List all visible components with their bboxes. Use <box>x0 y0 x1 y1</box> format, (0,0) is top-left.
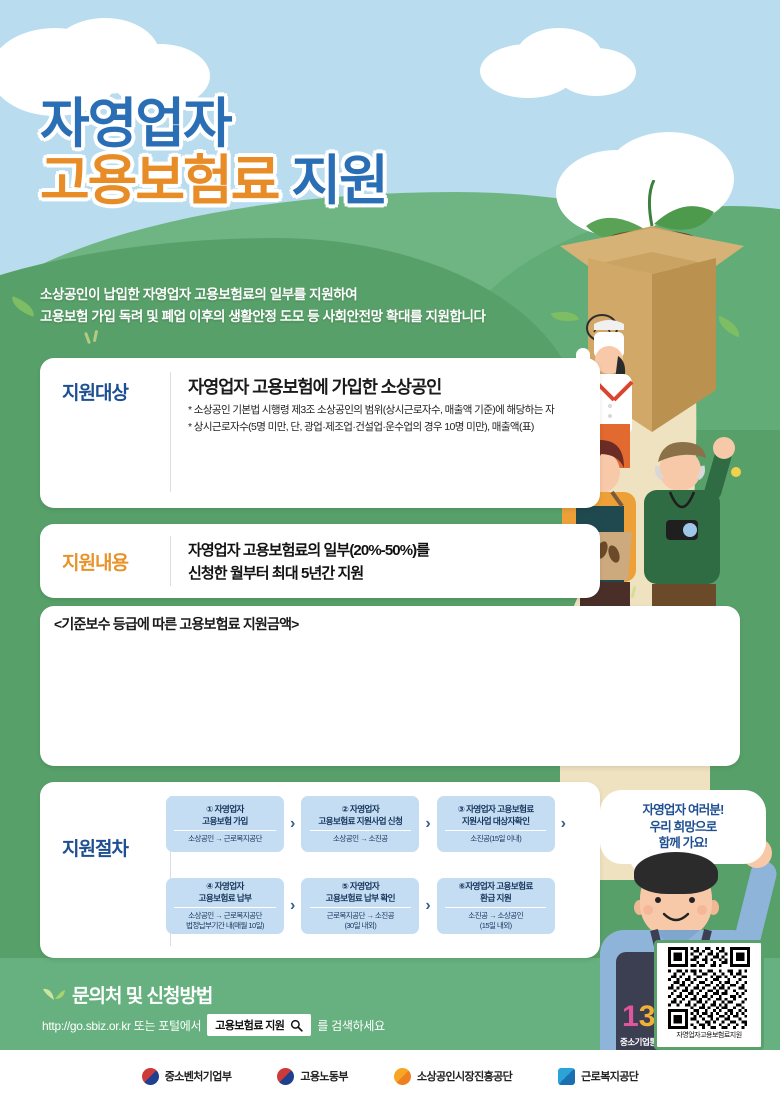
footer-url-text: http://go.sbiz.or.kr 또는 포털에서 <box>42 1017 201 1034</box>
poster-title: 자영업자 고용보험료 지원 <box>40 96 387 210</box>
man-face <box>640 890 712 930</box>
chevron-right-icon: › <box>425 815 430 833</box>
bubble-line-3: 함께 가요! <box>643 835 724 852</box>
qr-caption: 자영업자고용보험료지원 <box>676 1030 741 1040</box>
logo-item: 소상공인시장진흥공단 <box>394 1068 512 1085</box>
footer-instructions: http://go.sbiz.or.kr 또는 포털에서 고용보험료 지원 를 … <box>42 1014 385 1036</box>
step-title: ⑤ 자영업자고용보험료 납부 확인 <box>323 881 398 903</box>
bubble-line-1: 자영업자 여러분! <box>643 802 724 819</box>
divider <box>310 907 411 908</box>
support-target-headline: 자영업자 고용보험에 가입한 소상공인 <box>188 374 441 399</box>
procedure-step-1[interactable]: ① 자영업자고용보험 가입 소상공인 → 근로복지공단 <box>166 796 284 852</box>
step-detail: 소진공(15일 이내) <box>468 834 523 844</box>
support-content-text: 자영업자 고용보험료의 일부(20%-50%)를 신청한 월부터 최대 5년간 … <box>188 540 429 585</box>
title-line-2: 고용보험료 지원 <box>40 153 387 210</box>
qr-code-icon <box>666 947 752 1029</box>
logo-item: 중소벤처기업부 <box>142 1068 232 1085</box>
support-content-card: 지원내용 자영업자 고용보험료의 일부(20%-50%)를 신청한 월부터 최대… <box>40 524 600 598</box>
step-detail: 소상공인 → 근로복지공단 <box>186 834 264 844</box>
bullet-item: * 소상공인 기본법 시행령 제3조 소상공인의 범위(상시근로자수, 매출액 … <box>188 402 598 419</box>
divider <box>174 830 275 831</box>
subtitle-line-1: 소상공인이 납입한 자영업자 고용보험료의 일부를 지원하여 <box>40 284 486 306</box>
step-detail: 소상공인 → 소진공 <box>331 834 390 844</box>
support-content-label: 지원내용 <box>62 548 128 575</box>
logo-item: 고용노동부 <box>277 1068 348 1085</box>
step-detail: 소진공 → 소상공인(15일 내외) <box>466 911 525 931</box>
search-keyword: 고용보험료 지원 <box>215 1017 284 1033</box>
step-detail: 근로복지공단 → 소진공(30일 내외) <box>325 911 397 931</box>
flame-icon <box>394 1068 411 1085</box>
poster-subtitle: 소상공인이 납입한 자영업자 고용보험료의 일부를 지원하여 고용보험 가입 독… <box>40 284 486 329</box>
procedure-step-3[interactable]: ③ 자영업자 고용보험료지원사업 대상자확인 소진공(15일 이내) <box>437 796 555 852</box>
man-hair <box>634 852 718 894</box>
title-line-2-b: 지원 <box>291 151 386 211</box>
divider <box>445 830 546 831</box>
chevron-right-icon: › <box>290 815 295 833</box>
premium-support-table-card: <기준보수 등급에 따른 고용보험료 지원금액> (단위 : 원) <box>40 606 740 766</box>
step-title: ④ 자영업자고용보험료 납부 <box>196 881 255 903</box>
support-procedure-label: 지원절차 <box>62 834 128 861</box>
divider <box>174 907 275 908</box>
footer-suffix: 를 검색하세요 <box>317 1017 384 1034</box>
taegeuk-icon <box>142 1068 159 1085</box>
support-target-label: 지원대상 <box>62 378 128 405</box>
logo-item: 근로복지공단 <box>558 1068 638 1085</box>
bullet-item: * 상시근로자수(5명 미만, 단, 광업·제조업·건설업·운수업의 경우 10… <box>188 419 598 436</box>
agency-logo-bar: 중소벤처기업부 고용노동부 소상공인시장진흥공단 근로복지공단 <box>0 1050 780 1102</box>
search-icon <box>290 1019 303 1032</box>
title-line-2-a: 고용보험료 <box>40 151 278 211</box>
procedure-row-1: ① 자영업자고용보험 가입 소상공인 → 근로복지공단 › ② 자영업자고용보험… <box>166 796 566 852</box>
title-line-1: 자영업자 <box>40 96 387 153</box>
support-content-line-2: 신청한 월부터 최대 5년간 지원 <box>188 563 429 586</box>
bubble-line-2: 우리 희망으로 <box>643 819 724 836</box>
support-target-bullets: * 소상공인 기본법 시행령 제3조 소상공인의 범위(상시근로자수, 매출액 … <box>188 402 598 436</box>
sprout-icon <box>42 986 66 1004</box>
chevron-right-icon: › <box>561 815 566 833</box>
logo-label: 소상공인시장진흥공단 <box>417 1068 512 1084</box>
logo-label: 고용노동부 <box>300 1068 348 1084</box>
step-title: ① 자영업자고용보험 가입 <box>199 804 251 826</box>
subtitle-line-2: 고용보험 가입 독려 및 폐업 이후의 생활안정 도모 등 사회안전망 확대를 … <box>40 306 486 328</box>
poster-root: 자영업자 고용보험료 지원 소상공인이 납입한 자영업자 고용보험료의 일부를 … <box>0 0 780 1102</box>
procedure-step-4[interactable]: ④ 자영업자고용보험료 납부 소상공인 → 근로복지공단법정납부기간 내(매월 … <box>166 878 284 934</box>
procedure-row-2: ④ 자영업자고용보험료 납부 소상공인 → 근로복지공단법정납부기간 내(매월 … <box>166 878 555 934</box>
footer-title: 문의처 및 신청방법 <box>72 981 212 1008</box>
search-keyword-box[interactable]: 고용보험료 지원 <box>207 1014 311 1036</box>
procedure-step-5[interactable]: ⑤ 자영업자고용보험료 납부 확인 근로복지공단 → 소진공(30일 내외) <box>301 878 419 934</box>
step-title: ③ 자영업자 고용보험료지원사업 대상자확인 <box>455 804 537 826</box>
cloud-icon <box>556 48 636 96</box>
logo-label: 중소벤처기업부 <box>165 1068 232 1084</box>
logo-label: 근로복지공단 <box>581 1068 638 1084</box>
divider <box>310 830 411 831</box>
chevron-right-icon: › <box>290 897 295 915</box>
qr-code-box[interactable]: 자영업자고용보험료지원 <box>654 940 764 1050</box>
chevron-right-icon: › <box>425 897 430 915</box>
taegeuk-icon <box>277 1068 294 1085</box>
procedure-step-2[interactable]: ② 자영업자고용보험료 지원사업 신청 소상공인 → 소진공 <box>301 796 419 852</box>
step-title: ⑥자영업자 고용보험료환급 지원 <box>456 881 536 903</box>
table-caption: <기준보수 등급에 따른 고용보험료 지원금액> <box>54 614 299 634</box>
divider <box>170 536 171 586</box>
divider <box>445 907 546 908</box>
kcomwel-icon <box>558 1068 575 1085</box>
speech-bubble-text: 자영업자 여러분! 우리 희망으로 함께 가요! <box>643 802 724 853</box>
divider <box>170 372 171 492</box>
support-target-card: 지원대상 자영업자 고용보험에 가입한 소상공인 * 소상공인 기본법 시행령 … <box>40 358 600 508</box>
step-title: ② 자영업자고용보험료 지원사업 신청 <box>315 804 405 826</box>
step-detail: 소상공인 → 근로복지공단법정납부기간 내(매월 10일) <box>184 911 266 931</box>
procedure-step-6[interactable]: ⑥자영업자 고용보험료환급 지원 소진공 → 소상공인(15일 내외) <box>437 878 555 934</box>
support-content-line-1: 자영업자 고용보험료의 일부(20%-50%)를 <box>188 540 429 563</box>
